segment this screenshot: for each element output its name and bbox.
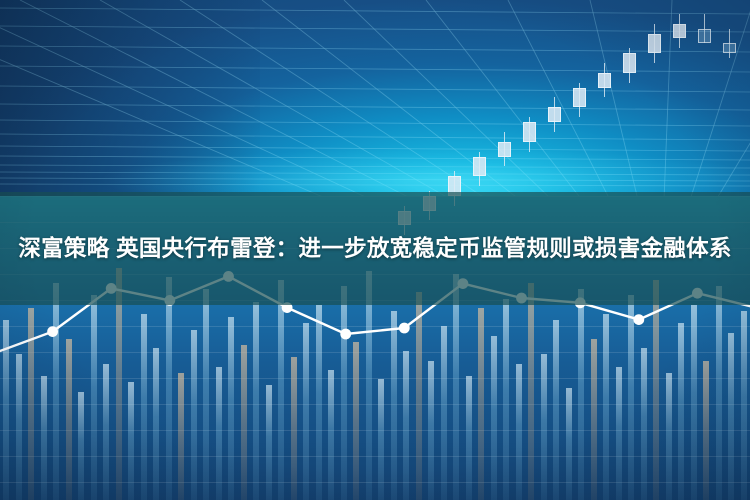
candle-body <box>473 157 486 177</box>
candle-body <box>698 29 711 44</box>
candle-body <box>673 24 686 39</box>
candle-body <box>523 122 536 142</box>
candle-body <box>498 142 511 157</box>
page-title: 深富策略 英国央行布雷登：进一步放宽稳定币监管规则或损害金融体系 <box>18 227 731 270</box>
candle-body <box>623 53 636 73</box>
candle-body <box>573 88 586 108</box>
headline-band: 深富策略 英国央行布雷登：进一步放宽稳定币监管规则或损害金融体系 <box>0 192 750 305</box>
candle-body <box>648 34 661 54</box>
candle-body <box>548 107 561 122</box>
candle-body <box>723 43 736 53</box>
financial-news-banner: 深富策略 英国央行布雷登：进一步放宽稳定币监管规则或损害金融体系 <box>0 0 750 500</box>
candle-body <box>598 73 611 88</box>
